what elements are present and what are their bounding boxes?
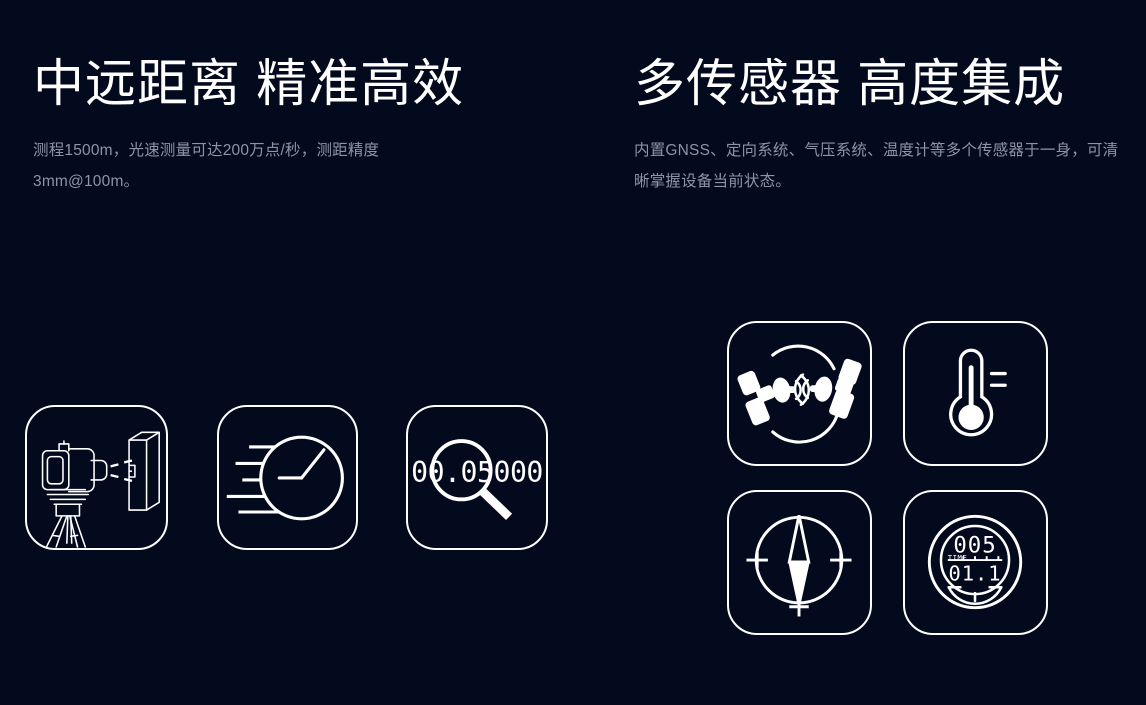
feature-highlight-page: 中远距离 精准高效 测程1500m，光速测量可达200万点/秒，测距精度3mm@… — [0, 0, 1146, 705]
column-range-accuracy: 中远距离 精准高效 测程1500m，光速测量可达200万点/秒，测距精度3mm@… — [33, 55, 553, 197]
laser-scanner-tripod-icon — [27, 407, 166, 548]
satellite-gnss-icon — [729, 323, 870, 464]
feature-tile-compass — [727, 490, 872, 635]
feature-tile-gnss — [727, 321, 872, 466]
magnifier-precision-icon: 00.05000 — [408, 407, 546, 548]
feature-tile-scanner — [25, 405, 168, 550]
feature-tile-speed — [217, 405, 358, 550]
column-multi-sensor: 多传感器 高度集成 内置GNSS、定向系统、气压系统、温度计等多个传感器于一身，… — [634, 55, 1134, 197]
compass-needle-icon — [729, 492, 870, 633]
feature-tile-barometer: 005 TIME 01.1 — [903, 490, 1048, 635]
page-title-left: 中远距离 精准高效 — [33, 55, 553, 112]
description-right: 内置GNSS、定向系统、气压系统、温度计等多个传感器于一身，可清晰掌握设备当前状… — [634, 135, 1134, 197]
page-title-right: 多传感器 高度集成 — [634, 55, 1134, 112]
feature-tile-temperature — [903, 321, 1048, 466]
barometer-gauge-icon: 005 TIME 01.1 — [905, 492, 1046, 633]
speed-clock-icon — [219, 407, 356, 548]
feature-tile-accuracy: 00.05000 — [406, 405, 548, 550]
description-left: 测程1500m，光速测量可达200万点/秒，测距精度3mm@100m。 — [33, 135, 463, 197]
thermometer-icon — [905, 323, 1046, 464]
gauge-bottom-value: 01.1 — [948, 561, 1001, 585]
